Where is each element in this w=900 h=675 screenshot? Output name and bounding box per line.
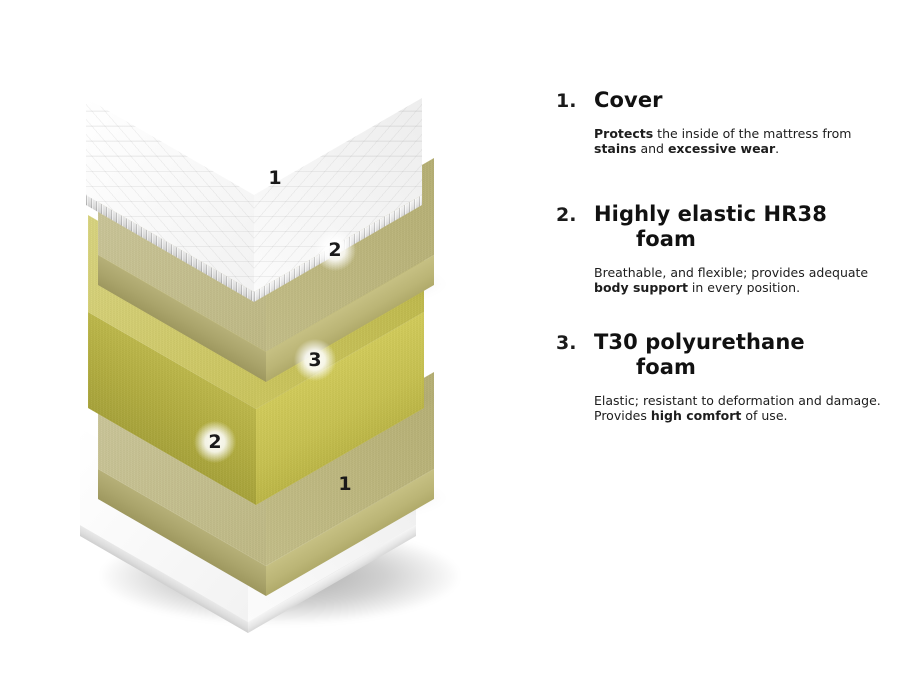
legend-item-title: Highly elastic HR38 foam [594,202,900,252]
legend-item-title-line1: Highly elastic HR38 [594,202,827,226]
emphasis-text: stains [594,141,636,156]
legend-item-number: 2. [556,202,594,308]
callout-core-t30: 3 [293,338,337,382]
callout-top-cover: 1 [253,156,297,200]
legend-item-body: T30 polyurethane foam Elastic; resistant… [594,330,900,436]
plain-text: Breathable, and flexible; provides adequ… [594,265,868,280]
layer-legend: 1. Cover Protects the inside of the matt… [556,0,900,675]
plain-text: and [636,141,667,156]
emphasis-text: high comfort [651,408,742,423]
legend-item-number: 3. [556,330,594,436]
legend-item-title-line2: foam [594,355,900,380]
legend-item-title-line2: foam [594,227,900,252]
plain-text: the inside of the mattress from [653,126,851,141]
legend-item-cover: 1. Cover Protects the inside of the matt… [556,88,900,169]
legend-item-description: Protects the inside of the mattress from… [594,126,884,157]
plain-text: of use. [741,408,787,423]
mattress-illustration: 1 2 3 2 1 [0,0,520,675]
legend-item-hr38-foam: 2. Highly elastic HR38 foam Breathable, … [556,202,900,308]
legend-item-title-line1: Cover [594,88,663,112]
legend-item-description: Breathable, and flexible; provides adequ… [594,265,884,296]
legend-item-body: Highly elastic HR38 foam Breathable, and… [594,202,900,308]
plain-text: . [775,141,779,156]
plain-text: in every position. [688,280,800,295]
emphasis-text: body support [594,280,688,295]
mattress-layer-stack: 1 2 3 2 1 [80,110,480,570]
legend-item-description: Elastic; resistant to deformation and da… [594,393,884,424]
legend-item-title-line1: T30 polyurethane [594,330,805,354]
callout-top-hr38: 2 [313,228,357,272]
legend-item-body: Cover Protects the inside of the mattres… [594,88,900,169]
legend-item-number: 1. [556,88,594,169]
legend-item-title: Cover [594,88,900,113]
legend-item-t30-foam: 3. T30 polyurethane foam Elastic; resist… [556,330,900,436]
emphasis-text: Protects [594,126,653,141]
emphasis-text: excessive wear [668,141,775,156]
legend-item-title: T30 polyurethane foam [594,330,900,380]
callout-bottom-cover: 1 [323,462,367,506]
callout-bottom-hr38: 2 [193,420,237,464]
